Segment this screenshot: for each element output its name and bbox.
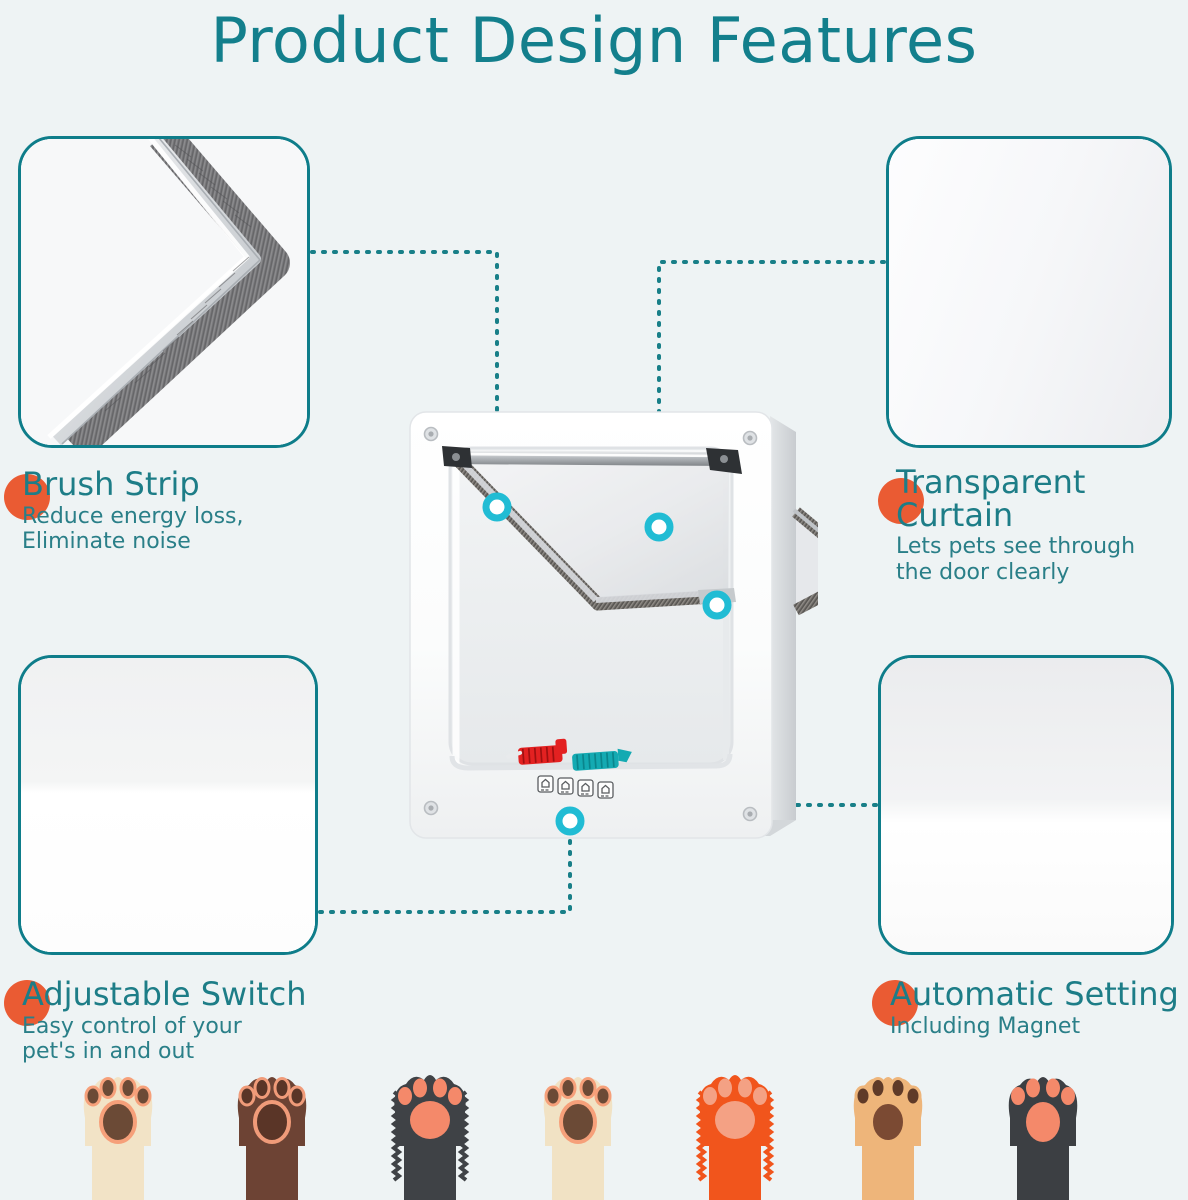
- product-illustration-pet-door: [398, 404, 818, 874]
- paw-caramel: [854, 1077, 923, 1200]
- paw-dark-brown: [238, 1077, 307, 1200]
- feature-title-adjustable-switch: Adjustable Switch: [22, 978, 307, 1011]
- feature-subtitle-adjustable-switch: Easy control of your pet's in and out: [22, 1014, 307, 1065]
- feature-caption-automatic-setting: Automatic Setting Including Magnet: [890, 978, 1179, 1039]
- page-title: Product Design Features: [0, 4, 1188, 77]
- paw-orange: [699, 1075, 771, 1200]
- feature-title-transparent-curtain: Transparent Curtain: [896, 466, 1135, 531]
- paw-illustrations-strip: [0, 1072, 1188, 1200]
- feature-subtitle-automatic-setting: Including Magnet: [890, 1014, 1179, 1040]
- feature-caption-brush-strip: Brush Strip Reduce energy loss, Eliminat…: [22, 468, 244, 555]
- feature-caption-transparent-curtain: Transparent Curtain Lets pets see throug…: [896, 466, 1135, 585]
- feature-photo-adjustable-switch: [18, 655, 318, 955]
- paw-cream: [84, 1077, 153, 1200]
- feature-subtitle-brush-strip: Reduce energy loss, Eliminate noise: [22, 504, 244, 555]
- paw-black: [1009, 1077, 1078, 1200]
- paw-tan: [544, 1077, 613, 1200]
- feature-title-automatic-setting: Automatic Setting: [890, 978, 1179, 1011]
- feature-caption-adjustable-switch: Adjustable Switch Easy control of your p…: [22, 978, 307, 1065]
- feature-photo-automatic-setting: [878, 655, 1174, 955]
- feature-title-brush-strip: Brush Strip: [22, 468, 244, 501]
- feature-photo-brush-strip: [18, 136, 310, 448]
- flap-open-wing: [794, 510, 818, 610]
- paw-charcoal: [394, 1075, 466, 1200]
- feature-subtitle-transparent-curtain: Lets pets see through the door clearly: [896, 534, 1135, 585]
- brush-strip-photo: [18, 136, 310, 448]
- infographic-canvas: Product Design Features: [0, 0, 1188, 1200]
- feature-photo-transparent-curtain: [886, 136, 1172, 448]
